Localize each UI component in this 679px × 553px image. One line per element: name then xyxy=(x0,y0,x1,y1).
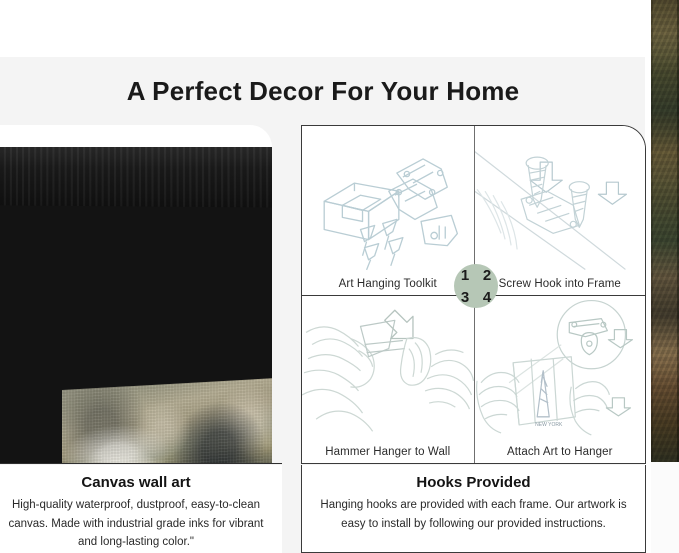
edge-artwork-image xyxy=(651,0,679,462)
edge-artwork-strip xyxy=(645,0,679,553)
instruction-step-1: Art Hanging Toolkit xyxy=(302,126,474,295)
page-title: A Perfect Decor For Your Home xyxy=(0,76,646,107)
instruction-step-4: NEW YORK xyxy=(474,295,646,464)
canvas-artwork xyxy=(62,378,272,464)
instruction-caption: Attach Art to Hanger xyxy=(475,446,646,458)
frame-top-bevel xyxy=(0,147,272,208)
step-number-badge: 1 2 3 4 xyxy=(454,264,498,308)
instruction-step-2: Screw Hook into Frame xyxy=(474,126,646,295)
instruction-caption: Hammer Hanger to Wall xyxy=(302,446,474,458)
step-number-1: 1 xyxy=(454,264,476,286)
product-detail-image: A Perfect Decor For Your Home xyxy=(0,0,679,553)
feature-card-hooks: Hooks Provided Hanging hooks are provide… xyxy=(301,465,646,553)
edge-artwork-underlay xyxy=(651,462,679,553)
instruction-caption: Screw Hook into Frame xyxy=(475,278,646,290)
step-number-2: 2 xyxy=(476,264,498,286)
step-number-3: 3 xyxy=(454,286,476,308)
instruction-step-3: Hammer Hanger to Wall xyxy=(302,295,474,464)
step-number-4: 4 xyxy=(476,286,498,308)
product-photo-card xyxy=(0,125,272,464)
feature-title: Hooks Provided xyxy=(314,474,633,491)
toolkit-icon xyxy=(302,126,474,273)
feature-card-canvas: Canvas wall art High-quality waterproof,… xyxy=(0,465,282,553)
screw-hook-icon xyxy=(475,126,646,273)
product-card-bottom-rule xyxy=(0,463,282,464)
top-white-band xyxy=(0,0,646,57)
feature-body: Hanging hooks are provided with each fra… xyxy=(314,496,633,533)
svg-text:NEW YORK: NEW YORK xyxy=(535,421,563,427)
instruction-card: Art Hanging Toolkit xyxy=(301,125,646,464)
attach-art-icon: NEW YORK xyxy=(475,296,646,442)
hammer-hanger-icon xyxy=(302,296,474,442)
feature-body: High-quality waterproof, dustproof, easy… xyxy=(4,496,268,552)
feature-title: Canvas wall art xyxy=(4,474,268,491)
instruction-caption: Art Hanging Toolkit xyxy=(302,278,474,290)
